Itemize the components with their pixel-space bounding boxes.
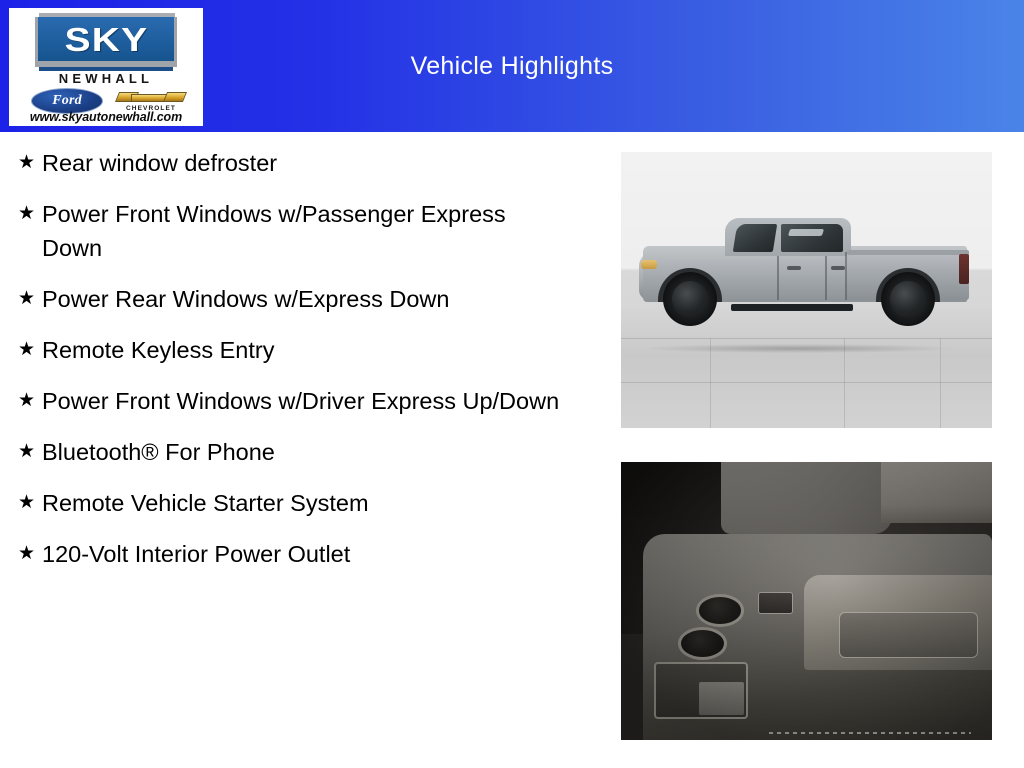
star-icon: ★ [10, 435, 42, 469]
door-handle [831, 266, 845, 270]
dealer-website-text: www.skyautonewhall.com [17, 110, 195, 124]
feature-label: Power Front Windows w/Driver Express Up/… [42, 384, 562, 418]
star-icon: ★ [10, 486, 42, 520]
door-seam [845, 252, 847, 300]
feature-label: Power Front Windows w/Passenger Express … [42, 197, 562, 265]
bowtie-right-wing [163, 92, 187, 102]
star-icon: ★ [10, 146, 42, 180]
rear-wheel-rim [890, 281, 926, 317]
list-item: ★ 120-Volt Interior Power Outlet [10, 537, 600, 571]
armrest-stitching [769, 732, 971, 734]
truck-shadow [643, 344, 951, 353]
star-icon: ★ [10, 537, 42, 571]
vehicle-highlights-list: ★ Rear window defroster ★ Power Front Wi… [10, 146, 600, 588]
interior-seat-back [721, 462, 892, 534]
feature-label: Bluetooth® For Phone [42, 435, 562, 469]
sky-brand-plate: SKY [35, 17, 177, 61]
running-board [731, 304, 853, 311]
vehicle-exterior-photo[interactable] [621, 152, 992, 428]
list-item: ★ Remote Vehicle Starter System [10, 486, 600, 520]
taillight [959, 254, 969, 284]
window-reflection [788, 229, 824, 236]
list-item: ★ Power Front Windows w/Driver Express U… [10, 384, 600, 418]
cup-holder-front [696, 594, 745, 627]
ford-logo-text: Ford [52, 94, 82, 108]
front-wheel-rim [672, 281, 708, 317]
front-wheel [663, 272, 717, 326]
feature-label: Rear window defroster [42, 146, 562, 180]
feature-label: Remote Vehicle Starter System [42, 486, 562, 520]
list-item: ★ Power Front Windows w/Passenger Expres… [10, 197, 600, 265]
headlight [641, 260, 657, 269]
star-icon: ★ [10, 384, 42, 418]
oem-brand-row: Ford CHEVROLET [17, 88, 195, 112]
door-seam [825, 256, 827, 300]
cup-holder-rear [678, 627, 727, 660]
dealer-logo-inner: SKY NEWHALL Ford CHEVROLET www.skyautone… [17, 11, 195, 123]
door-seam [777, 256, 779, 300]
interior-passenger-seat [881, 462, 992, 523]
pickup-truck-illustration [639, 210, 975, 346]
truck-front-window [733, 224, 777, 252]
door-handle [787, 266, 801, 270]
rear-wheel [881, 272, 935, 326]
center-console [643, 534, 992, 740]
feature-label: Remote Keyless Entry [42, 333, 562, 367]
feature-label: 120-Volt Interior Power Outlet [42, 537, 562, 571]
list-item: ★ Remote Keyless Entry [10, 333, 600, 367]
chevrolet-bowtie-icon [117, 90, 185, 105]
dealer-location-text: NEWHALL [17, 71, 195, 86]
truck-bed-rail [847, 250, 969, 255]
feature-label: Power Rear Windows w/Express Down [42, 282, 562, 316]
star-icon: ★ [10, 282, 42, 316]
star-icon: ★ [10, 333, 42, 367]
console-card-slot [758, 592, 793, 615]
dealer-logo[interactable]: SKY NEWHALL Ford CHEVROLET www.skyautone… [9, 8, 203, 126]
sky-brand-text: SKY [64, 23, 148, 56]
vehicle-interior-photo[interactable] [621, 462, 992, 740]
list-item: ★ Bluetooth® For Phone [10, 435, 600, 469]
console-tray-mat [699, 682, 744, 715]
armrest-inset-panel [839, 612, 978, 657]
star-icon: ★ [10, 197, 42, 231]
list-item: ★ Power Rear Windows w/Express Down [10, 282, 600, 316]
list-item: ★ Rear window defroster [10, 146, 600, 180]
